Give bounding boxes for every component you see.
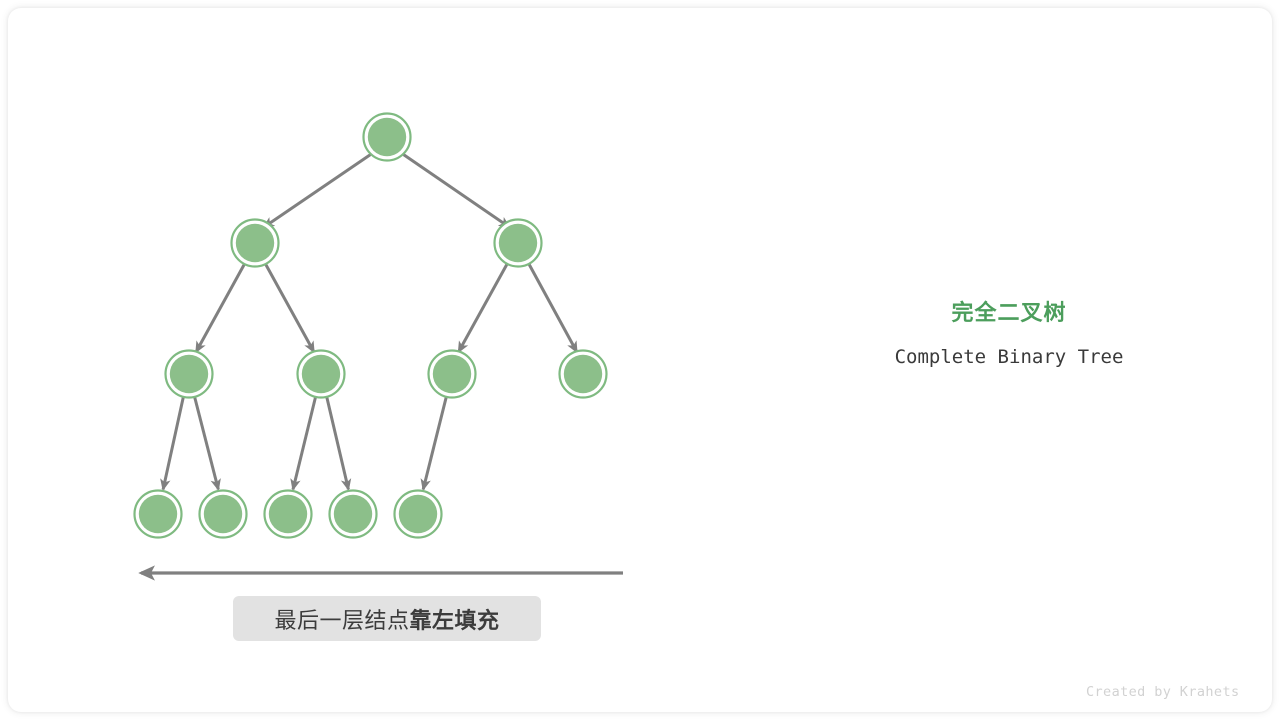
diagram-card: 完全二叉树 Complete Binary Tree 最后一层结点靠左填充 Cr…	[8, 8, 1272, 712]
tree-node-n9[interactable]	[200, 491, 247, 538]
tree-node-n3[interactable]	[495, 220, 542, 267]
diagram-subtitle: Complete Binary Tree	[844, 344, 1174, 370]
tree-node-n11[interactable]	[330, 491, 377, 538]
edge-n3-n6	[459, 265, 507, 352]
edge-n3-n7	[529, 265, 577, 352]
annotation-tag-plain: 最后一层结点	[274, 608, 409, 633]
tree-node-n7[interactable]	[560, 351, 607, 398]
tree-edges	[163, 155, 577, 490]
tree-node-n6[interactable]	[429, 351, 476, 398]
edge-n4-n8	[163, 397, 183, 489]
edge-n2-n4	[196, 265, 244, 352]
edge-n5-n10	[293, 397, 316, 489]
edge-n6-n12	[423, 397, 446, 489]
caption-block: 完全二叉树 Complete Binary Tree	[844, 298, 1174, 370]
edge-n2-n5	[266, 265, 314, 352]
tree-node-n4[interactable]	[166, 351, 213, 398]
tree-node-n5[interactable]	[298, 351, 345, 398]
edge-n4-n9	[195, 397, 219, 489]
edge-n5-n11	[327, 397, 349, 489]
diagram-title: 完全二叉树	[844, 298, 1174, 328]
tree-node-n8[interactable]	[135, 491, 182, 538]
tree-node-n12[interactable]	[395, 491, 442, 538]
tree-node-n2[interactable]	[232, 220, 279, 267]
screenshot-root: 完全二叉树 Complete Binary Tree 最后一层结点靠左填充 Cr…	[0, 0, 1280, 720]
tree-node-n1[interactable]	[364, 114, 411, 161]
edge-n1-n3	[404, 155, 510, 228]
annotation-tag-bold: 靠左填充	[410, 608, 500, 633]
footer-credit: Created by Krahets	[1086, 684, 1240, 700]
annotation-tag: 最后一层结点靠左填充	[233, 596, 541, 641]
tree-node-n10[interactable]	[265, 491, 312, 538]
tree-nodes	[135, 114, 607, 538]
edge-n1-n2	[264, 155, 371, 228]
annotation-tag-label: 最后一层结点靠左填充	[274, 603, 499, 635]
